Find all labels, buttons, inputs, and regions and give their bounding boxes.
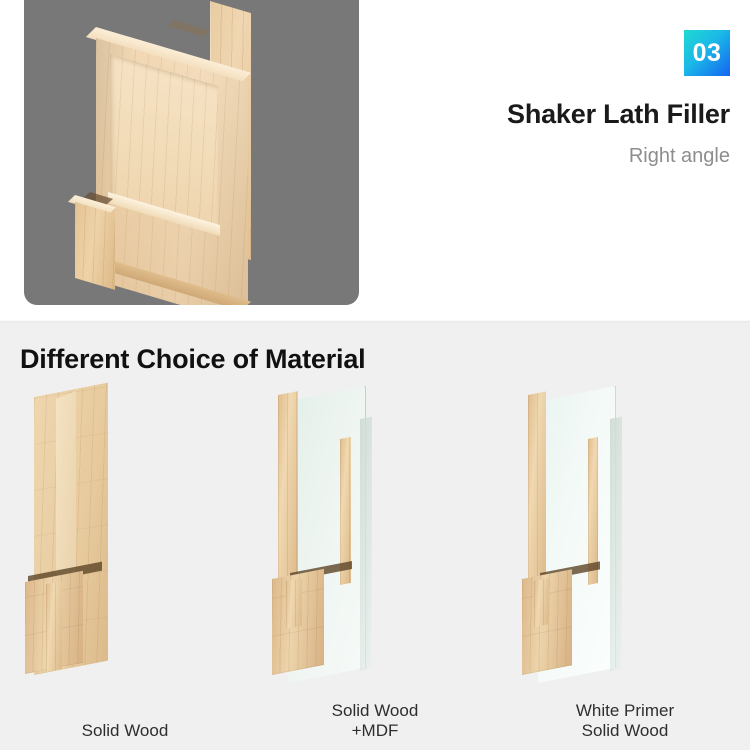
variant-figure [500, 383, 750, 693]
hero-product-photo [24, 0, 359, 305]
variant-caption: Solid Wood +MDF [250, 701, 500, 741]
variant1-foot-stile [46, 581, 62, 672]
step-number-badge: 03 [684, 30, 730, 76]
variant3-front-stile [528, 392, 546, 591]
variant3-panel-edge [610, 417, 622, 671]
variant-figure [0, 383, 250, 693]
hero-title: Shaker Lath Filler [310, 98, 730, 130]
hero-door-top-notch [167, 20, 210, 37]
material-variant-row: Solid Wood Solid Wood +MDF [0, 383, 750, 743]
hero-section: 03 Shaker Lath Filler Right angle [0, 0, 750, 323]
variant-figure [250, 383, 500, 693]
variant2-panel-edge [360, 417, 372, 671]
hero-door-illustration [24, 0, 359, 305]
materials-section: Different Choice of Material Solid Wood [0, 323, 750, 750]
variant3-foot-stile [534, 578, 549, 627]
variant2-front-stile [278, 391, 298, 591]
variant-caption: White Primer Solid Wood [500, 701, 750, 741]
product-infographic-page: 03 Shaker Lath Filler Right angle Differ… [0, 0, 750, 750]
material-variant-solid-wood-mdf: Solid Wood +MDF [250, 383, 500, 743]
variant2-foot-stile [286, 578, 302, 629]
material-variant-white-primer: White Primer Solid Wood [500, 383, 750, 743]
hero-subtitle: Right angle [310, 144, 730, 168]
material-variant-solid-wood: Solid Wood [0, 383, 250, 743]
hero-door-foot-block [75, 202, 115, 290]
materials-heading: Different Choice of Material [20, 344, 365, 375]
variant-caption: Solid Wood [0, 721, 250, 741]
hero-text-block: 03 Shaker Lath Filler Right angle [310, 30, 730, 168]
